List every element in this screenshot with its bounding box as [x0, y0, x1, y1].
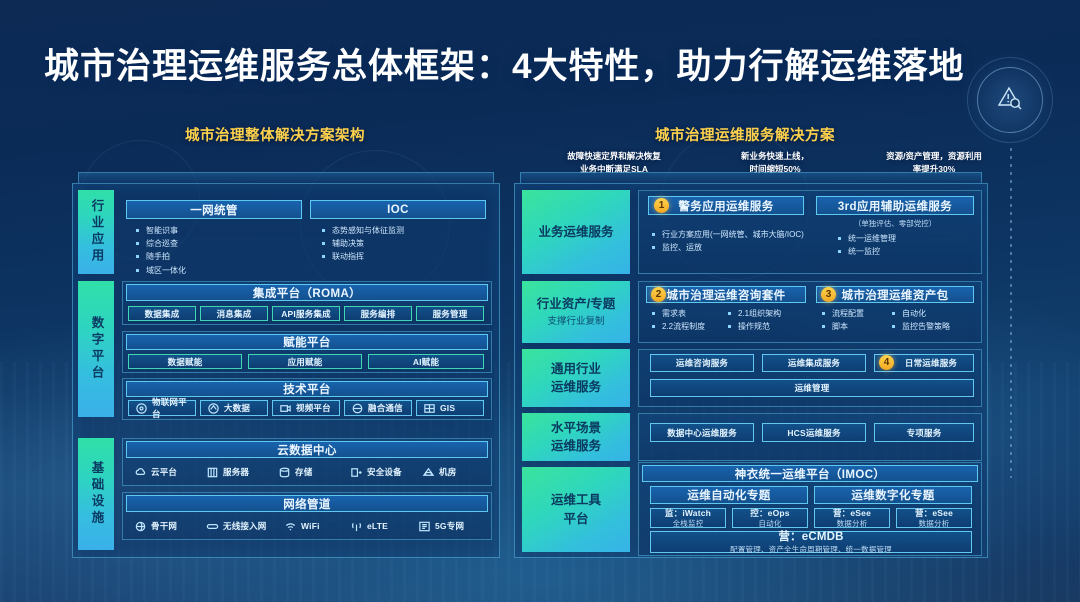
row-label-general-industry-ops: 通用行业 运维服务: [522, 349, 630, 407]
list-item: 行业方案应用(一网统管、城市大脑/IOC): [652, 228, 804, 241]
box-ops-asset-pack[interactable]: 城市治理运维资产包: [816, 286, 974, 303]
chip-special-service[interactable]: 专项服务: [874, 423, 974, 442]
server-icon: [206, 466, 219, 479]
badge-number-1: 1: [654, 198, 669, 213]
cell-tech-0[interactable]: 物联网平台: [128, 400, 196, 416]
warning-search-badge: [962, 52, 1058, 148]
cell-tech-3[interactable]: 融合通信: [344, 400, 412, 416]
group-title-enablement: 赋能平台: [126, 334, 488, 350]
cell-tech-1[interactable]: 大数据: [200, 400, 268, 416]
layer-label-infrastructure: 基础设施: [78, 438, 114, 550]
cell-net-3[interactable]: eLTE: [344, 517, 406, 535]
list-item: 态势感知与体征监测: [322, 224, 404, 237]
box-yiwangtongguan[interactable]: 一网统管: [126, 200, 302, 219]
topic-ops-automation[interactable]: 运维自动化专题: [650, 486, 808, 504]
tool-esee-1[interactable]: 营：eSee 数据分析: [814, 508, 890, 528]
chip-ops-consulting[interactable]: 运维咨询服务: [650, 354, 754, 372]
list-item: 监控告警策略: [892, 320, 950, 333]
badge-number-2: 2: [651, 287, 666, 302]
list-item: 统一监控: [838, 245, 896, 258]
comm-icon: [351, 402, 364, 415]
layer-label-industry-app: 行业应用: [78, 190, 114, 274]
chip-dc-ops[interactable]: 数据中心运维服务: [650, 423, 754, 442]
bullets-kit-col1: 需求表 2.2流程制度: [652, 307, 705, 333]
bigdata-icon: [207, 402, 220, 415]
left-section-heading: 城市治理整体解决方案架构: [185, 124, 365, 145]
bullets-pack-col1: 流程配置 脚本: [822, 307, 864, 333]
bullets-police-app-ops: 行业方案应用(一网统管、城市大脑/IOC) 监控、运放: [652, 228, 804, 254]
badge-number-3: 3: [821, 287, 836, 302]
cell-net-4[interactable]: 5G专网: [412, 517, 484, 535]
cell-net-0[interactable]: 骨干网: [128, 517, 196, 535]
list-item: 自动化: [892, 307, 950, 320]
gis-icon: [423, 402, 436, 415]
lte-icon: [350, 520, 363, 533]
cell-roma-4[interactable]: 服务管理: [416, 306, 484, 321]
cell-infra-3[interactable]: 安全设备: [344, 463, 412, 481]
tool-eops[interactable]: 控：eOps 自动化: [732, 508, 808, 528]
box-ioc[interactable]: IOC: [310, 200, 486, 219]
cell-roma-2[interactable]: API服务集成: [272, 306, 340, 321]
list-item: 监控、运放: [652, 241, 804, 254]
iot-icon: [135, 402, 148, 415]
chip-ops-management[interactable]: 运维管理: [650, 379, 974, 397]
cell-enable-2[interactable]: AI赋能: [368, 354, 484, 369]
decor-dotted-line: [1010, 148, 1012, 478]
chip-ops-integration[interactable]: 运维集成服务: [762, 354, 866, 372]
group-title-roma: 集成平台（ROMA）: [126, 284, 488, 301]
group-title-tech: 技术平台: [126, 381, 488, 397]
group-title-network: 网络管道: [126, 495, 488, 512]
cell-infra-1[interactable]: 服务器: [200, 463, 268, 481]
row-label-ops-tool-platform: 运维工具 平台: [522, 467, 630, 552]
list-item: 需求表: [652, 307, 705, 320]
list-item: 域区一体化: [136, 264, 186, 277]
group-title-cloud-dc: 云数据中心: [126, 441, 488, 458]
cell-enable-1[interactable]: 应用赋能: [248, 354, 362, 369]
list-item: 流程配置: [822, 307, 864, 320]
cell-enable-0[interactable]: 数据赋能: [128, 354, 242, 369]
bullets-kit-col2: 2.1组织架构 操作规范: [728, 307, 781, 333]
box-ops-consulting-kit[interactable]: 城市治理运维咨询套件: [646, 286, 806, 303]
row-label-industry-assets: 行业资产/专题 支撑行业复制: [522, 281, 630, 343]
cell-tech-2[interactable]: 视频平台: [272, 400, 340, 416]
cell-infra-0[interactable]: 云平台: [128, 463, 196, 481]
subtitle-3rd-app-ops: （单独评估、零部党控）: [816, 218, 974, 229]
cloud-icon: [134, 466, 147, 479]
page-title: 城市治理运维服务总体框架：4大特性，助力行解运维落地: [44, 38, 984, 89]
list-item: 辅助决策: [322, 237, 404, 250]
topic-ops-digitalization[interactable]: 运维数字化专题: [814, 486, 972, 504]
cell-net-1[interactable]: 无线接入网: [200, 517, 272, 535]
list-item: 2.2流程制度: [652, 320, 705, 333]
list-item: 2.1组织架构: [728, 307, 781, 320]
bullets-3rd-app-ops: 统一运维管理 统一监控: [838, 232, 896, 258]
video-icon: [279, 402, 292, 415]
backbone-icon: [134, 520, 147, 533]
badge-number-4: 4: [879, 355, 894, 370]
list-item: 联动指挥: [322, 250, 404, 263]
list-item: 随手拍: [136, 250, 186, 263]
tool-esee-2[interactable]: 营：eSee 数据分析: [896, 508, 972, 528]
box-3rd-app-ops[interactable]: 3rd应用辅助运维服务: [816, 196, 974, 215]
wireless-icon: [206, 520, 219, 533]
bullets-yiwangtongguan: 智能识事 综合巡查 随手拍 域区一体化: [136, 224, 186, 277]
row-label-horizontal-scene-ops: 水平场景 运维服务: [522, 413, 630, 461]
list-item: 综合巡查: [136, 237, 186, 250]
bullets-pack-col2: 自动化 监控告警策略: [892, 307, 950, 333]
cell-roma-0[interactable]: 数据集成: [128, 306, 196, 321]
row-label-business-ops: 业务运维服务: [522, 190, 630, 274]
tool-ecmdb[interactable]: 营：eCMDB 配置管理、资产全生命周期管理、统一数据管理: [650, 531, 972, 553]
cell-infra-4[interactable]: 机房: [416, 463, 484, 481]
imoc-title: 神衣统一运维平台（IMOC）: [642, 465, 978, 482]
list-item: 脚本: [822, 320, 864, 333]
list-item: 操作规范: [728, 320, 781, 333]
storage-icon: [278, 466, 291, 479]
security-icon: [350, 466, 363, 479]
box-police-app-ops[interactable]: 警务应用运维服务: [648, 196, 804, 215]
cell-roma-1[interactable]: 消息集成: [200, 306, 268, 321]
bullets-ioc: 态势感知与体征监测 辅助决策 联动指挥: [322, 224, 404, 264]
fiveg-icon: [418, 520, 431, 533]
cell-tech-4[interactable]: GIS: [416, 400, 484, 416]
list-item: 统一运维管理: [838, 232, 896, 245]
right-section-heading: 城市治理运维服务解决方案: [655, 124, 835, 145]
list-item: 智能识事: [136, 224, 186, 237]
wifi-icon: [284, 520, 297, 533]
chip-hcs-ops[interactable]: HCS运维服务: [762, 423, 866, 442]
cell-net-2[interactable]: WiFi: [278, 517, 340, 535]
cell-roma-3[interactable]: 服务编排: [344, 306, 412, 321]
tool-iwatch[interactable]: 监：iWatch 全栈监控: [650, 508, 726, 528]
room-icon: [422, 466, 435, 479]
layer-label-digital-platform: 数字平台: [78, 281, 114, 417]
cell-infra-2[interactable]: 存储: [272, 463, 340, 481]
